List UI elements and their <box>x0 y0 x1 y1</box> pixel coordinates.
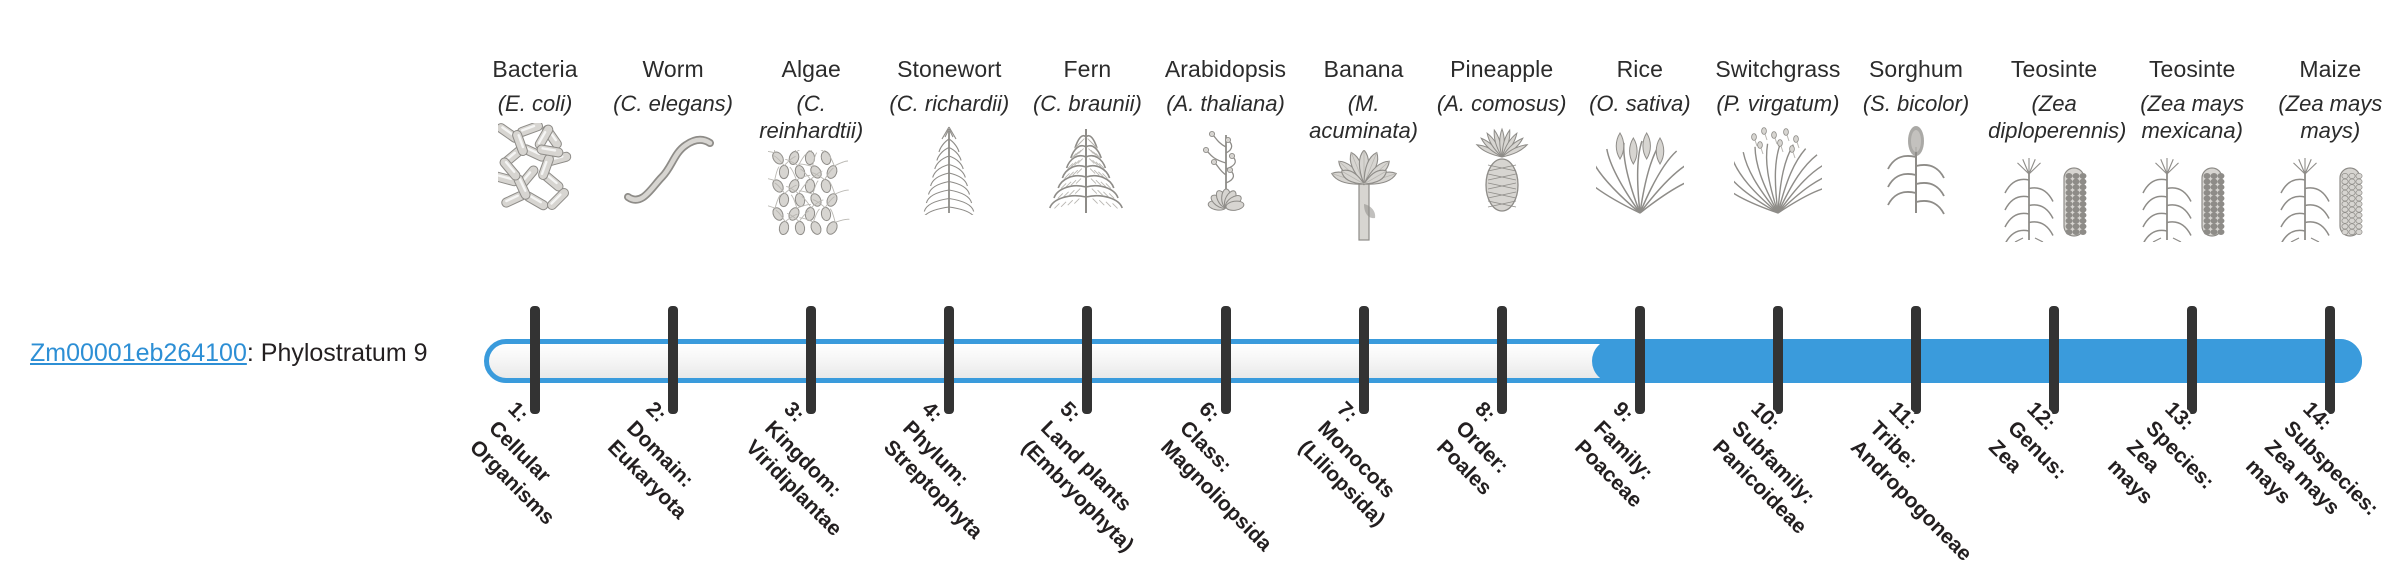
species-latin-name: (C. elegans) <box>613 90 733 117</box>
arabidopsis-illustration <box>1159 123 1293 215</box>
species-latin-name: (C. reinhardtii) <box>745 90 877 144</box>
species-column-rice-9: Rice(O. sativa) <box>1571 54 1709 215</box>
phylostratum-figure: Bacteria(E. coli)Worm(C. elegans) Algae(… <box>0 0 2400 580</box>
species-latin-name: (M. acuminata) <box>1298 90 1430 144</box>
species-latin-name: (A. thaliana) <box>1166 90 1285 117</box>
teosinte-plant-and-ear-illustration <box>1987 150 2121 242</box>
rank-label-text: 6: Class: Magnoliopsida <box>1154 396 1315 557</box>
species-common-name: Stonewort <box>897 54 1001 84</box>
species-common-name: Banana <box>1324 54 1404 84</box>
rice-plant-illustration <box>1573 123 1707 215</box>
species-latin-name: (Zea mays mexicana) <box>2126 90 2258 144</box>
species-latin-name: (C. braunii) <box>1033 90 1142 117</box>
teosinte-plant-and-ear-illustration <box>2125 150 2259 242</box>
fern-illustration <box>1020 123 1154 215</box>
species-latin-name: (Zea mays mays) <box>2264 90 2396 144</box>
species-column-switchgrass-10: Switchgrass(P. virgatum) <box>1709 54 1847 215</box>
pineapple-illustration <box>1435 123 1569 215</box>
species-column-maize-14: Maize(Zea mays mays) <box>2261 54 2399 242</box>
stonewort-illustration <box>882 123 1016 215</box>
rank-label-text: 11: Tribe: Andropogoneae <box>1845 396 2016 567</box>
species-column-fern-5: Fern(C. braunii) <box>1018 54 1156 215</box>
species-common-name: Rice <box>1617 54 1663 84</box>
species-common-name: Pineapple <box>1450 54 1553 84</box>
species-common-name: Teosinte <box>2149 54 2235 84</box>
species-latin-name: (O. sativa) <box>1589 90 1690 117</box>
species-column-teosinte-12: Teosinte(Zea diploperennis) <box>1985 54 2123 242</box>
species-common-name: Sorghum <box>1869 54 1963 84</box>
rank-label-text: 10: Subfamily: Panicoideae <box>1707 396 1851 540</box>
rank-label-text: 12: Genus: Zea <box>1983 396 2091 504</box>
sorghum-illustration <box>1849 123 1983 215</box>
species-common-name: Maize <box>2299 54 2361 84</box>
species-latin-name: (P. virgatum) <box>1716 90 1839 117</box>
species-common-name: Worm <box>642 54 703 84</box>
species-latin-name: (E. coli) <box>498 90 573 117</box>
phylostratum-track[interactable] <box>0 330 2400 390</box>
banana-plant-illustration <box>1297 150 1431 242</box>
rank-label-text: 1: Cellular Organisms <box>464 396 599 531</box>
species-latin-name: (C. richardii) <box>889 90 1009 117</box>
species-latin-name: (A. comosus) <box>1437 90 1567 117</box>
rank-label-text: 13: Species: Zea mays <box>2102 396 2239 533</box>
species-common-name: Teosinte <box>2011 54 2097 84</box>
track-fill <box>1592 339 2362 383</box>
species-column-worm-2: Worm(C. elegans) <box>604 54 742 215</box>
rank-label-text: 9: Family: Poaceae <box>1569 396 1687 514</box>
species-common-name: Arabidopsis <box>1165 54 1286 84</box>
species-column-pineapple-8: Pineapple(A. comosus) <box>1433 54 1571 215</box>
species-latin-name: (S. bicolor) <box>1863 90 1969 117</box>
species-common-name: Fern <box>1064 54 1112 84</box>
species-common-name: Switchgrass <box>1715 54 1840 84</box>
rank-label-text: 7: Monocots (Liliopsida) <box>1292 396 1428 532</box>
rank-label-text: 2: Domain: Eukaryota <box>602 396 731 525</box>
rank-label-text: 4: Phylum: Streptophyta <box>878 396 1027 545</box>
rank-label-text: 3: Kingdom: Viridiplantae <box>740 396 886 542</box>
species-column-bacteria-1: Bacteria(E. coli) <box>466 54 604 215</box>
species-common-name: Bacteria <box>492 54 577 84</box>
species-latin-name: (Zea diploperennis) <box>1988 90 2120 144</box>
species-column-teosinte-13: Teosinte(Zea mays mexicana) <box>2123 54 2261 242</box>
rank-label-row: 1: Cellular Organisms1: Cellular Organis… <box>0 396 2400 580</box>
species-column-arabidopsis-6: Arabidopsis(A. thaliana) <box>1157 54 1295 215</box>
species-column-banana-7: Banana(M. acuminata) <box>1295 54 1433 242</box>
species-column-algae-3: Algae(C. reinhardtii) <box>742 54 880 242</box>
rank-label-text: 8: Order: Poales <box>1430 396 1535 501</box>
species-column-sorghum-11: Sorghum(S. bicolor) <box>1847 54 1985 215</box>
species-column-stonewort-4: Stonewort(C. richardii) <box>880 54 1018 215</box>
rank-label-text: 14: Subspecies: Zea mays mays <box>2240 396 2400 560</box>
species-common-name: Algae <box>782 54 841 84</box>
rank-label-text: 5: Land plants (Embryophyta) <box>1016 396 1178 558</box>
species-header-row: Bacteria(E. coli)Worm(C. elegans) Algae(… <box>466 54 2382 304</box>
bacteria-illustration <box>468 123 602 215</box>
switchgrass-illustration <box>1711 123 1845 215</box>
maize-plant-and-ear-illustration <box>2263 150 2397 242</box>
nematode-illustration <box>606 123 740 215</box>
algae-cells-illustration <box>744 150 878 242</box>
